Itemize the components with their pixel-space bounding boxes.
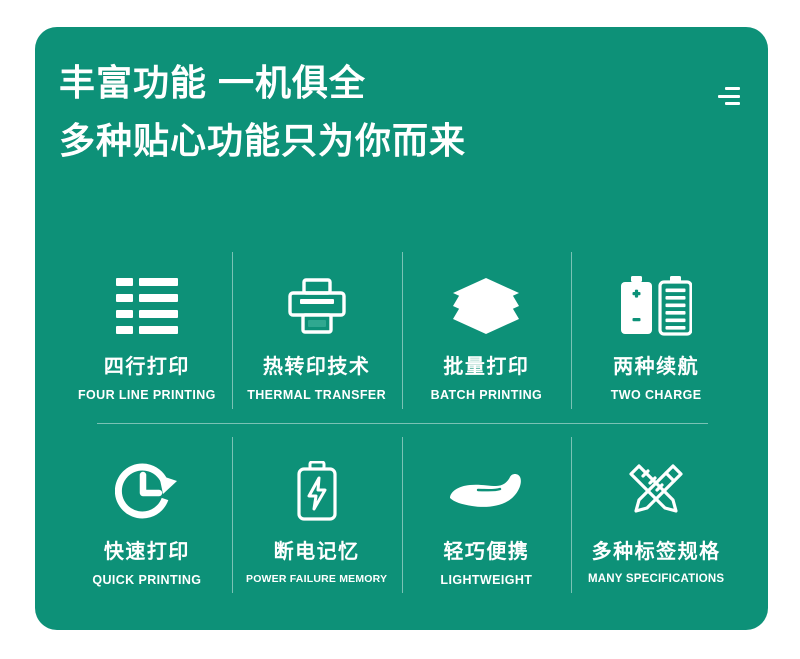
promo-page: 丰富功能 一机俱全 多种贴心功能只为你而来 xyxy=(0,0,800,659)
feature-cell-lightweight[interactable]: 轻巧便携 LIGHTWEIGHT xyxy=(402,423,572,608)
feature-label-cn: 四行打印 xyxy=(104,350,190,379)
feature-label-cn: 多种标签规格 xyxy=(592,535,721,564)
align-line-middle xyxy=(718,95,740,98)
printer-icon xyxy=(286,268,348,344)
feature-cell-two-charge[interactable]: 两种续航 TWO CHARGE xyxy=(571,238,741,423)
panel-header: 丰富功能 一机俱全 多种贴心功能只为你而来 xyxy=(59,65,745,159)
align-lines-icon[interactable] xyxy=(718,87,740,105)
feature-grid: 四行打印 FOUR LINE PRINTING 热转印技术 THERMAL TR… xyxy=(62,238,741,607)
feature-label-en: MANY SPECIFICATIONS xyxy=(588,573,724,585)
feature-label-cn: 两种续航 xyxy=(613,350,699,379)
clock-refresh-icon xyxy=(115,453,179,529)
feature-label-cn: 断电记忆 xyxy=(274,535,360,564)
feature-label-cn: 批量打印 xyxy=(443,350,529,379)
pencil-ruler-icon xyxy=(625,453,687,529)
layers-stack-icon xyxy=(453,268,519,344)
feature-cell-four-line-printing[interactable]: 四行打印 FOUR LINE PRINTING xyxy=(62,238,232,423)
feature-label-en: TWO CHARGE xyxy=(611,388,702,402)
feature-label-cn: 快速打印 xyxy=(104,535,190,564)
headline-secondary: 多种贴心功能只为你而来 xyxy=(59,123,745,159)
headline-primary: 丰富功能 一机俱全 xyxy=(59,65,745,101)
feature-label-en: LIGHTWEIGHT xyxy=(440,573,532,587)
align-line-bottom xyxy=(725,102,740,105)
align-line-top xyxy=(725,87,740,90)
feature-label-en: FOUR LINE PRINTING xyxy=(78,388,216,402)
open-hand-icon xyxy=(448,453,524,529)
feature-label-cn: 热转印技术 xyxy=(263,350,371,379)
feature-label-en: QUICK PRINTING xyxy=(92,573,201,587)
feature-cell-many-specifications[interactable]: 多种标签规格 MANY SPECIFICATIONS xyxy=(571,423,741,608)
feature-label-en: POWER FAILURE MEMORY xyxy=(246,573,387,585)
feature-cell-batch-printing[interactable]: 批量打印 BATCH PRINTING xyxy=(402,238,572,423)
battery-bolt-icon xyxy=(293,453,341,529)
two-batteries-icon xyxy=(620,268,692,344)
feature-label-en: THERMAL TRANSFER xyxy=(247,388,386,402)
feature-cell-thermal-transfer[interactable]: 热转印技术 THERMAL TRANSFER xyxy=(232,238,402,423)
list-lines-icon xyxy=(116,268,178,344)
feature-cell-power-failure-memory[interactable]: 断电记忆 POWER FAILURE MEMORY xyxy=(232,423,402,608)
feature-cell-quick-printing[interactable]: 快速打印 QUICK PRINTING xyxy=(62,423,232,608)
feature-label-en: BATCH PRINTING xyxy=(431,388,543,402)
feature-label-cn: 轻巧便携 xyxy=(443,535,529,564)
feature-panel: 丰富功能 一机俱全 多种贴心功能只为你而来 xyxy=(35,27,768,630)
